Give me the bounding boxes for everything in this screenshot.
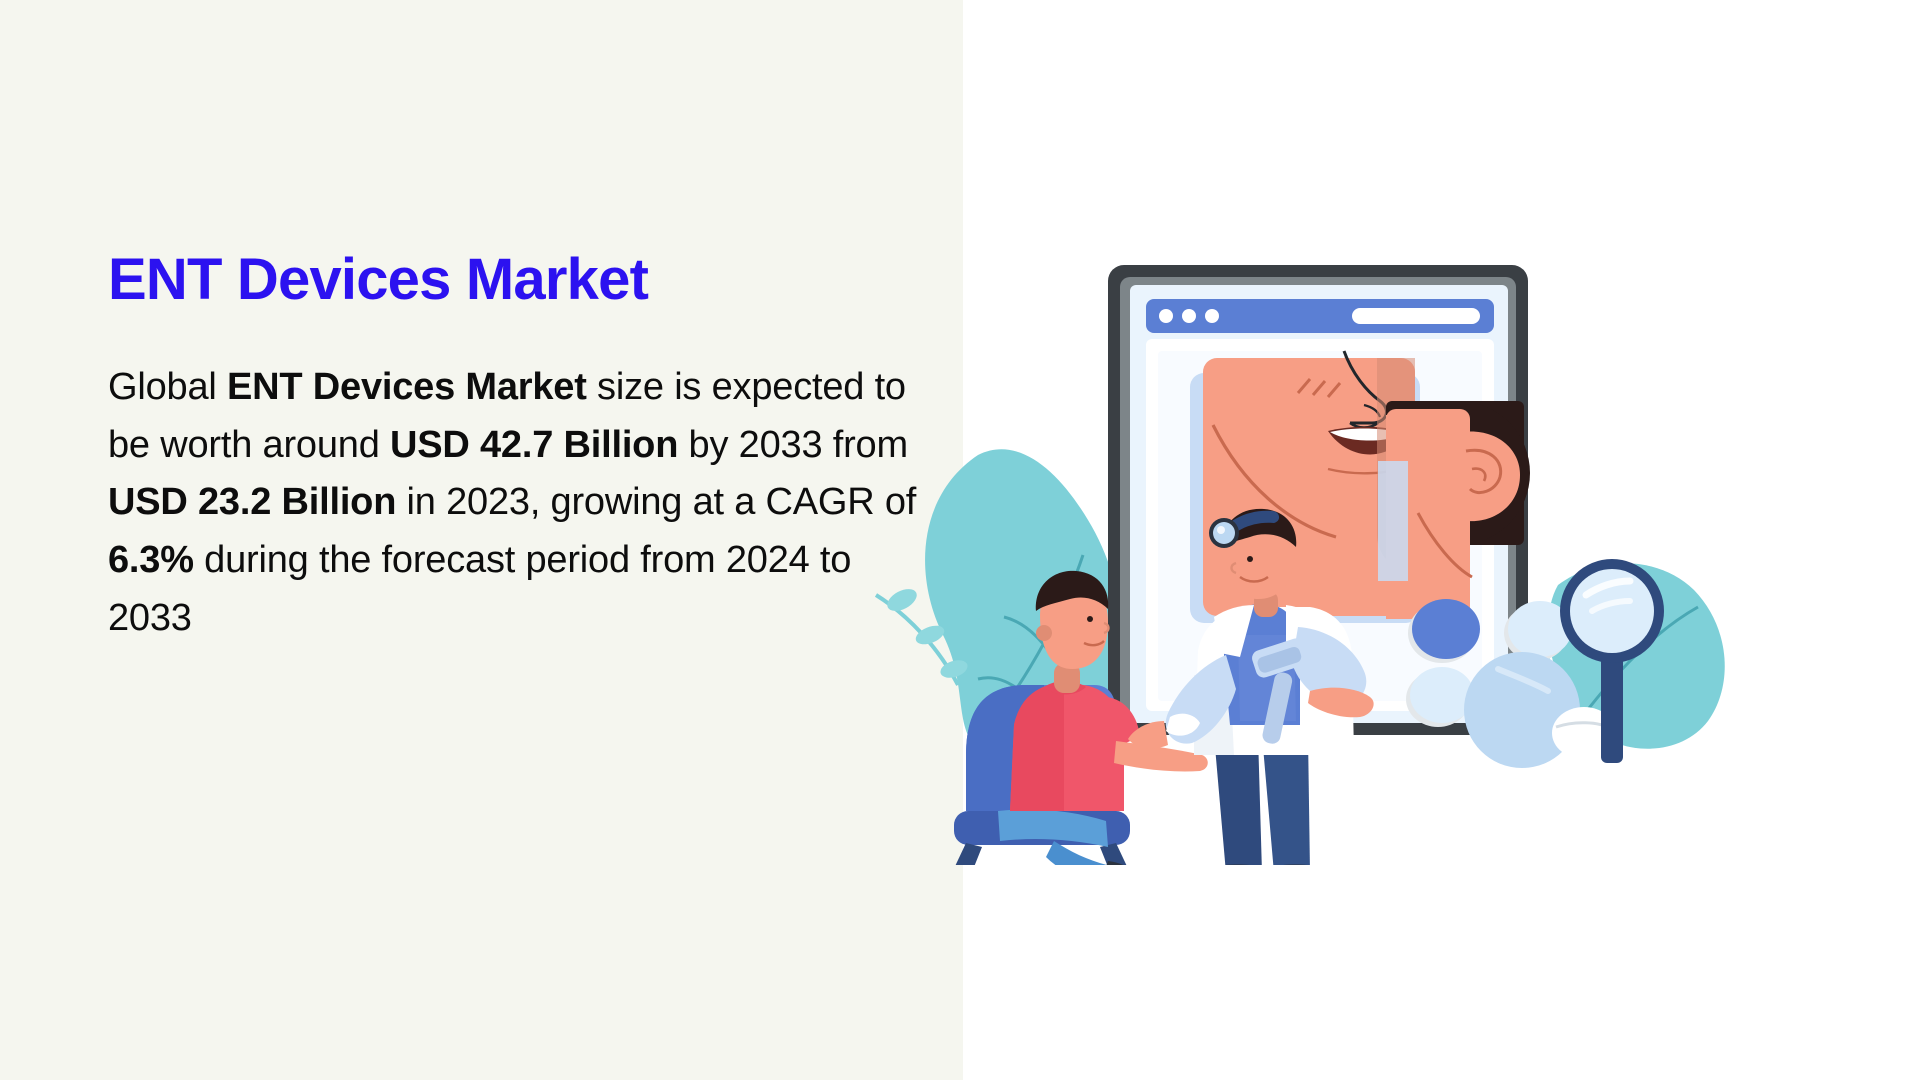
text-panel: ENT Devices Market Global ENT Devices Ma… [0, 0, 963, 1080]
summary-segment-6: in 2023, growing at a CAGR of [396, 481, 916, 523]
browser-dot-2 [1182, 309, 1196, 323]
browser-dot-1 [1159, 309, 1173, 323]
browser-dot-3 [1205, 309, 1219, 323]
summary-segment-0: Global [108, 366, 227, 408]
ent-illustration [858, 255, 1738, 865]
page-title: ENT Devices Market [108, 250, 938, 311]
head-mirror-lens [1213, 522, 1235, 544]
summary-segment-7: 6.3% [108, 539, 194, 581]
text-block: ENT Devices Market Global ENT Devices Ma… [108, 250, 938, 648]
illustration-panel [963, 0, 1920, 1080]
summary-segment-5: USD 23.2 Billion [108, 481, 396, 523]
chair-leg-left [950, 843, 982, 865]
pill-blue-1 [1412, 599, 1480, 659]
magnifier-handle [1601, 653, 1623, 763]
summary-segment-3: USD 42.7 Billion [390, 424, 678, 466]
poster-root: ENT Devices Market Global ENT Devices Ma… [0, 0, 1920, 1080]
doctor-eye [1247, 556, 1253, 562]
patient-eye [1087, 616, 1093, 622]
market-summary-paragraph: Global ENT Devices Market size is expect… [108, 359, 928, 648]
summary-segment-8: during the forecast period from 2024 to … [108, 539, 851, 639]
browser-address-bar [1352, 308, 1480, 324]
summary-segment-1: ENT Devices Market [227, 366, 587, 408]
